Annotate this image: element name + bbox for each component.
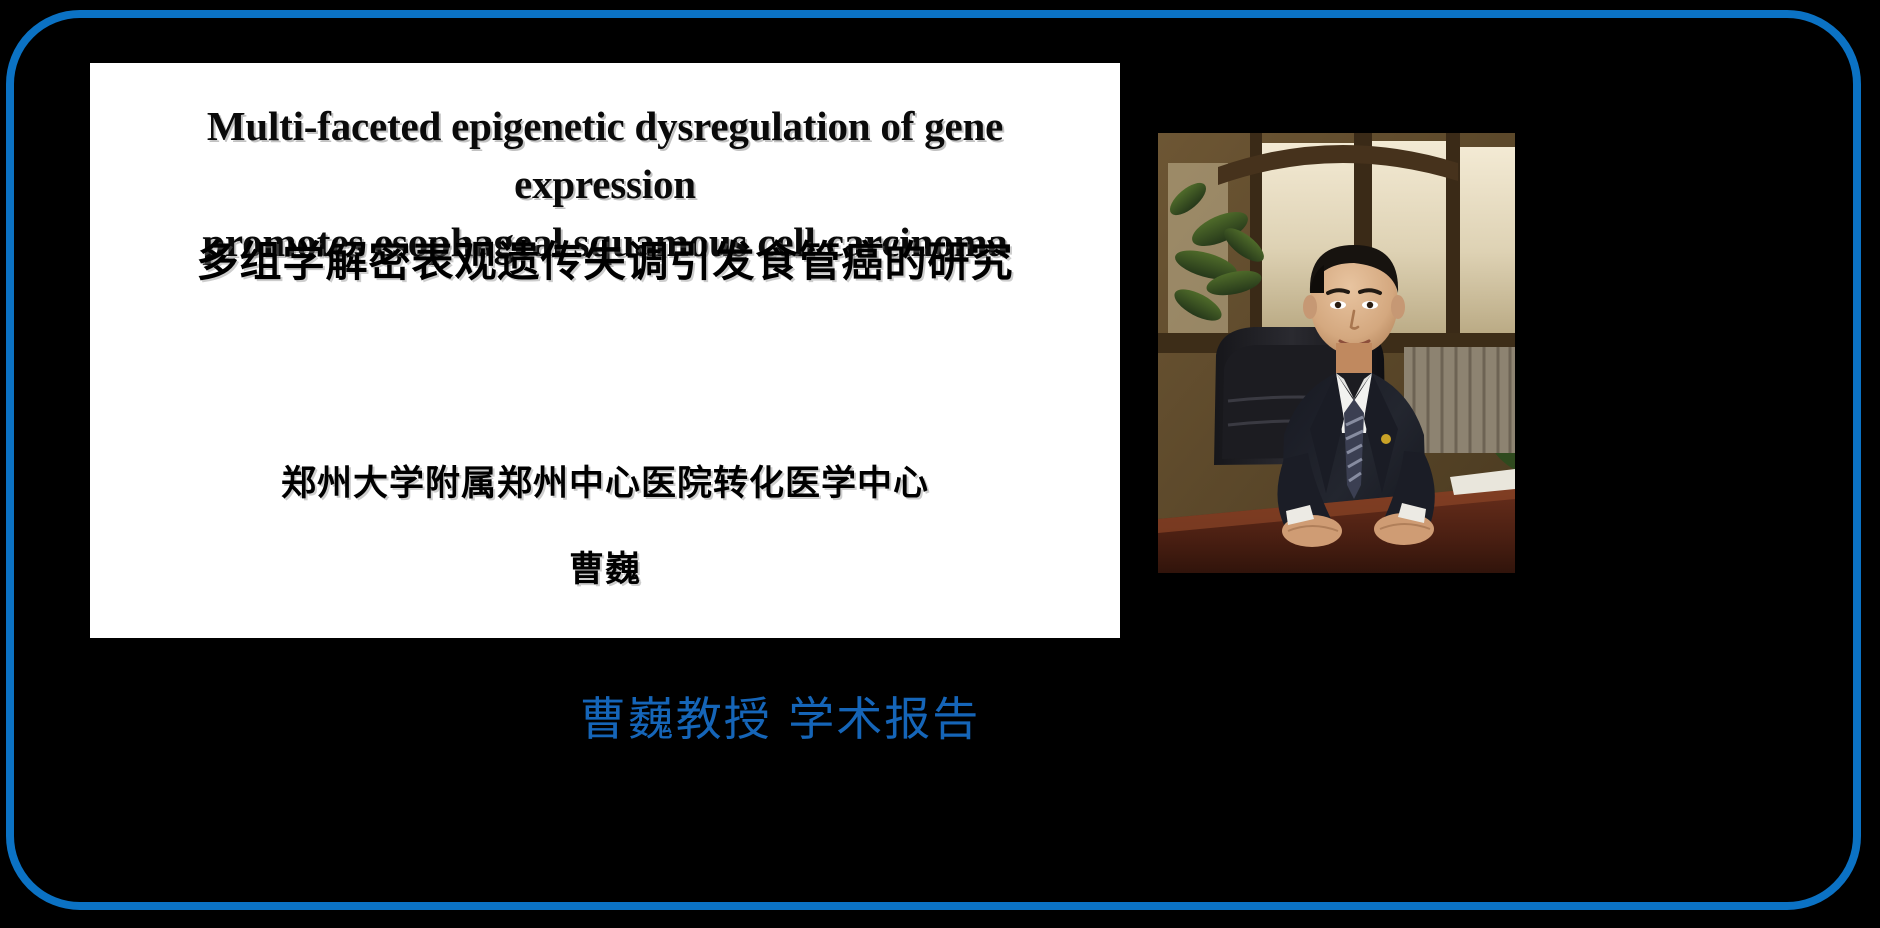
presentation-slide-canvas: Multi-faceted epigenetic dysregulation o…	[0, 0, 1880, 928]
slide-affiliation: 郑州大学附属郑州中心医院转化医学中心	[130, 455, 1080, 506]
title-slide-panel: Multi-faceted epigenetic dysregulation o…	[90, 63, 1120, 638]
lecture-caption: 曹巍教授 学术报告	[0, 692, 1560, 747]
slide-title-chinese: 多组学解密表观遗传失调引发食管癌的研究	[130, 235, 1080, 290]
speaker-portrait-photo	[1158, 133, 1515, 573]
slide-presenter-name: 曹巍	[130, 541, 1080, 592]
slide-title-english-line1: Multi-faceted epigenetic dysregulation o…	[130, 97, 1080, 213]
